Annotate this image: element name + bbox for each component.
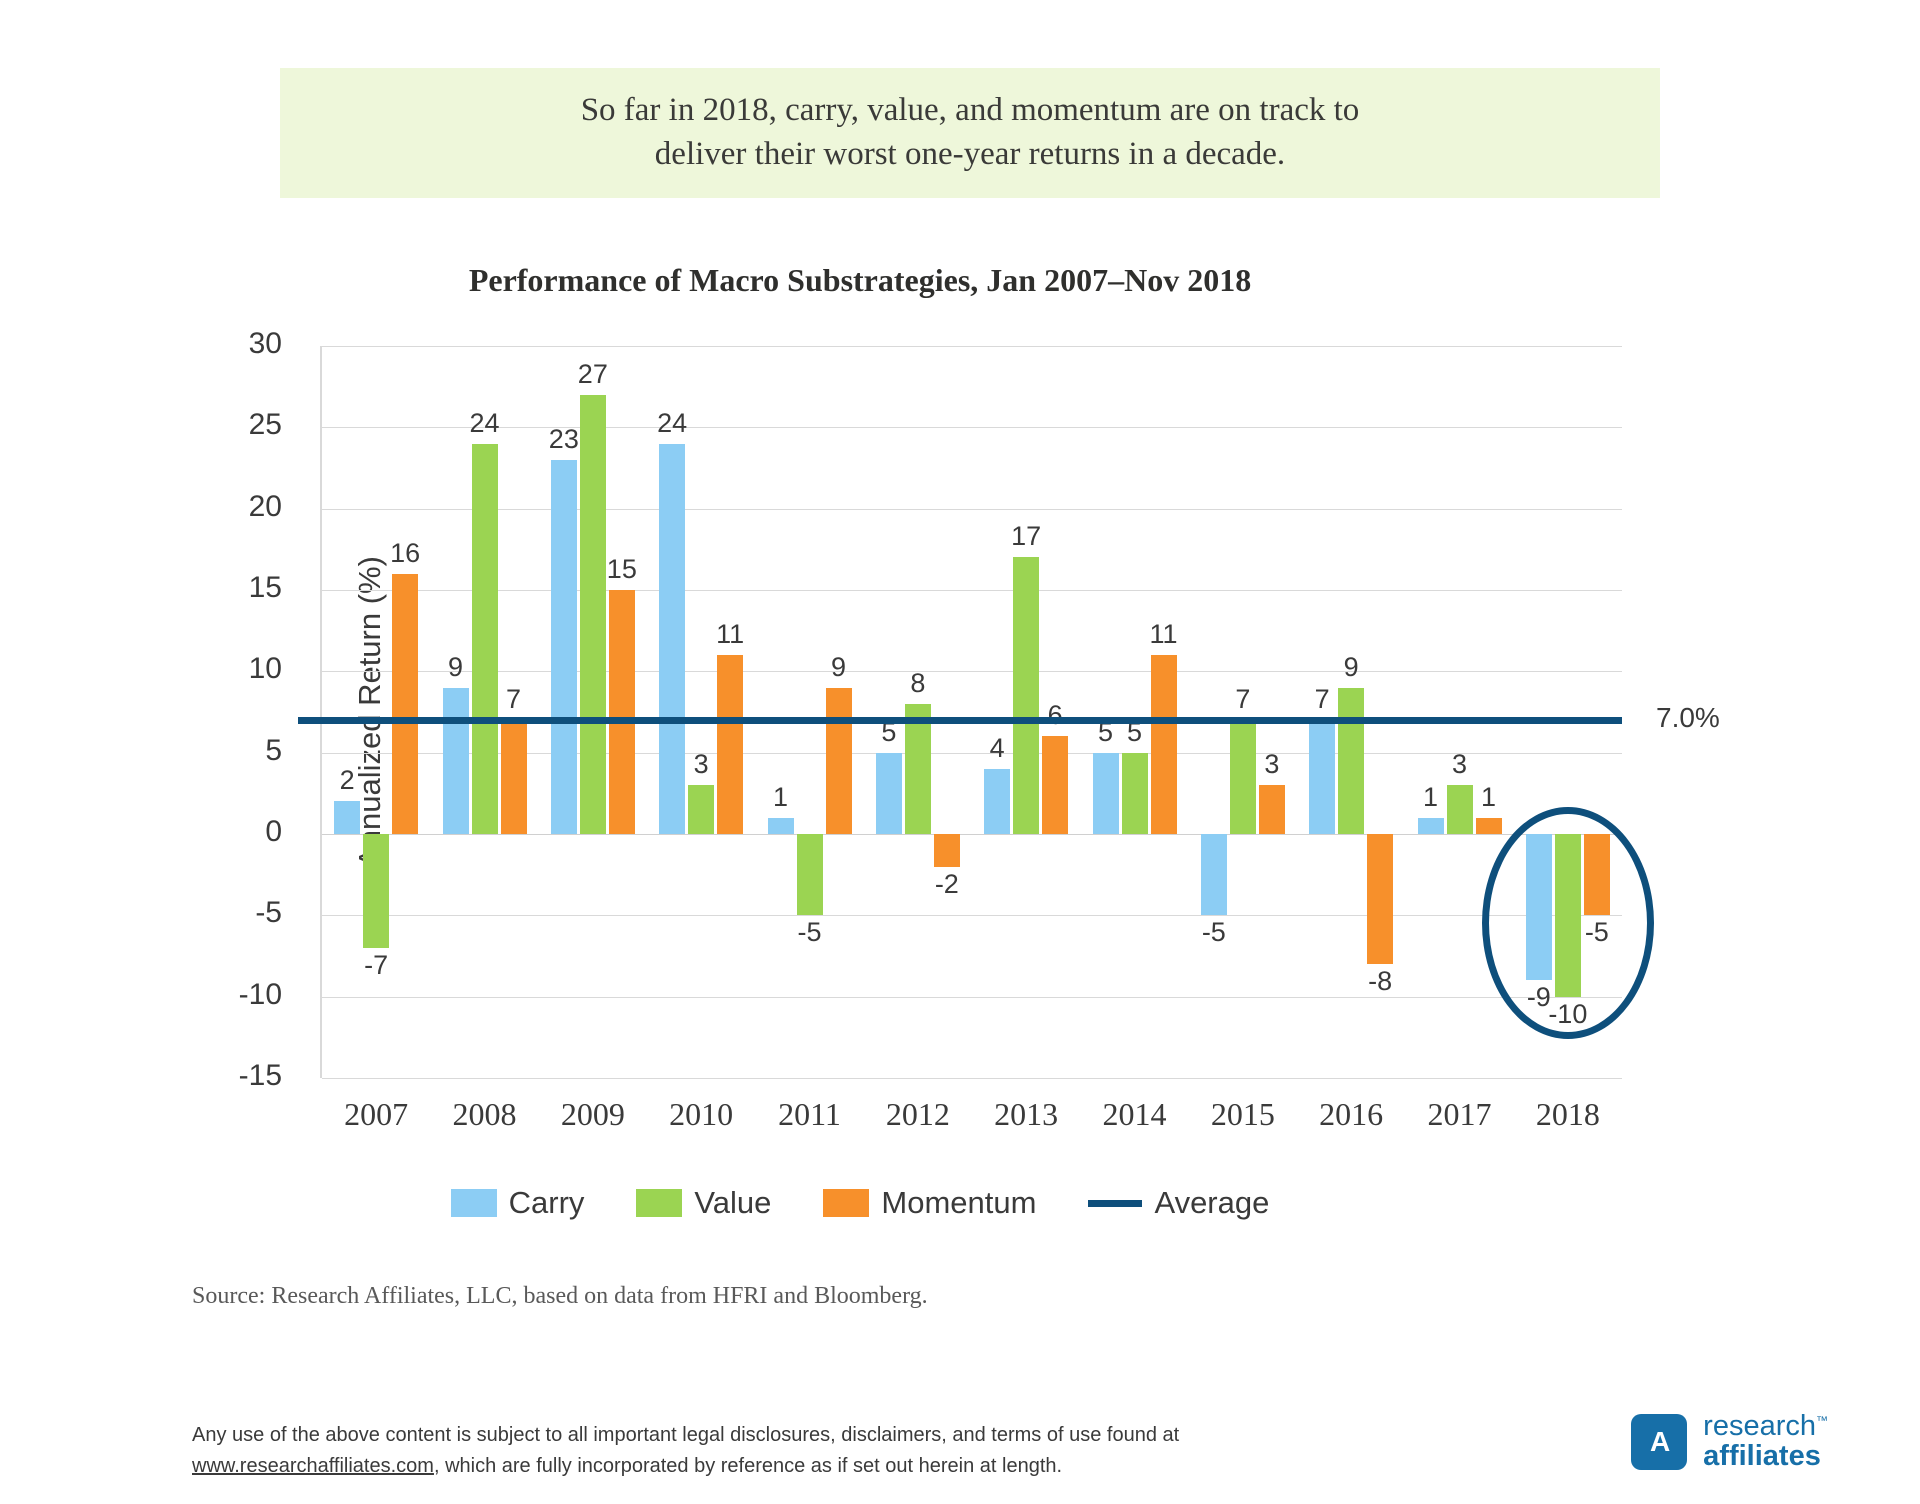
- bar-value-label-momentum-2010: 11: [700, 619, 760, 650]
- average-reference-line: [298, 717, 1622, 724]
- bar-carry-2012[interactable]: [876, 753, 902, 834]
- bar-group-2012: 58-2: [876, 346, 960, 1078]
- bar-value-label-value-2015: 7: [1213, 684, 1273, 715]
- plot-area: Annualized Return (%) 2-7169247232715243…: [322, 346, 1622, 1078]
- legend-swatch-momentum-icon: [823, 1189, 869, 1217]
- bar-carry-2017[interactable]: [1418, 818, 1444, 834]
- bar-value-label-momentum-2012: -2: [917, 869, 977, 900]
- x-axis-tick-2011: 2011: [750, 1096, 870, 1133]
- bar-carry-2014[interactable]: [1093, 753, 1119, 834]
- legend-swatch-average-icon: [1088, 1200, 1142, 1207]
- brand-line-2: affiliates: [1703, 1442, 1828, 1472]
- bar-momentum-2013[interactable]: [1042, 736, 1068, 834]
- bar-value-label-carry-2015: -5: [1184, 917, 1244, 948]
- brand-line-1-text: research: [1703, 1410, 1816, 1442]
- bar-group-2011: 1-59: [768, 346, 852, 1078]
- bar-value-2009[interactable]: [580, 395, 606, 834]
- gridline: [322, 1078, 1622, 1079]
- bar-value-label-momentum-2018: -5: [1567, 917, 1627, 948]
- bar-group-2014: 5511: [1093, 346, 1177, 1078]
- bar-group-2015: -573: [1201, 346, 1285, 1078]
- x-axis-tick-2013: 2013: [966, 1096, 1086, 1133]
- bar-momentum-2010[interactable]: [717, 655, 743, 834]
- callout-banner: So far in 2018, carry, value, and moment…: [280, 68, 1660, 198]
- bar-group-2009: 232715: [551, 346, 635, 1078]
- legend-swatch-carry-icon: [451, 1189, 497, 1217]
- bar-value-label-value-2009: 27: [563, 359, 623, 390]
- bar-momentum-2011[interactable]: [826, 688, 852, 834]
- bar-momentum-2007[interactable]: [392, 574, 418, 834]
- bar-value-label-momentum-2009: 15: [592, 554, 652, 585]
- legend-label-momentum: Momentum: [881, 1185, 1036, 1221]
- bar-carry-2008[interactable]: [443, 688, 469, 834]
- bar-group-2018: -9-10-5: [1526, 346, 1610, 1078]
- bar-value-label-momentum-2008: 7: [484, 684, 544, 715]
- bar-momentum-2016[interactable]: [1367, 834, 1393, 964]
- bar-momentum-2012[interactable]: [934, 834, 960, 867]
- bar-value-2018[interactable]: [1555, 834, 1581, 997]
- bar-value-2008[interactable]: [472, 444, 498, 834]
- bar-value-label-value-2018: -10: [1538, 999, 1598, 1030]
- bar-value-2010[interactable]: [688, 785, 714, 834]
- bar-carry-2016[interactable]: [1309, 720, 1335, 834]
- x-axis-tick-2017: 2017: [1400, 1096, 1520, 1133]
- bar-group-2017: 131: [1418, 346, 1502, 1078]
- bar-value-label-value-2007: -7: [346, 950, 406, 981]
- brand-line-1: research™: [1703, 1412, 1828, 1442]
- bar-group-2008: 9247: [443, 346, 527, 1078]
- source-note: Source: Research Affiliates, LLC, based …: [192, 1283, 928, 1310]
- x-axis-tick-2018: 2018: [1508, 1096, 1628, 1133]
- callout-line-1: So far in 2018, carry, value, and moment…: [581, 89, 1360, 133]
- research-affiliates-logo-icon: A: [1631, 1414, 1687, 1470]
- brand-wordmark: research™ affiliates: [1703, 1412, 1828, 1472]
- x-axis-tick-2009: 2009: [533, 1096, 653, 1133]
- x-axis-tick-2015: 2015: [1183, 1096, 1303, 1133]
- bar-carry-2013[interactable]: [984, 769, 1010, 834]
- footer-text-1: Any use of the above content is subject …: [192, 1424, 1179, 1446]
- bar-momentum-2015[interactable]: [1259, 785, 1285, 834]
- legend-item-carry[interactable]: Carry: [451, 1185, 585, 1221]
- bar-value-label-momentum-2017: 1: [1459, 782, 1519, 813]
- bar-carry-2007[interactable]: [334, 801, 360, 834]
- bar-value-label-value-2017: 3: [1430, 749, 1490, 780]
- bar-carry-2015[interactable]: [1201, 834, 1227, 915]
- bar-value-label-momentum-2016: -8: [1350, 966, 1410, 997]
- x-axis-tick-2014: 2014: [1075, 1096, 1195, 1133]
- x-axis-tick-2007: 2007: [316, 1096, 436, 1133]
- bar-momentum-2018[interactable]: [1584, 834, 1610, 915]
- legend-label-value: Value: [694, 1185, 771, 1221]
- bar-value-label-value-2013: 17: [996, 521, 1056, 552]
- bar-value-label-carry-2011: 1: [751, 782, 811, 813]
- legend-swatch-value-icon: [636, 1189, 682, 1217]
- bar-momentum-2009[interactable]: [609, 590, 635, 834]
- bar-value-label-momentum-2015: 3: [1242, 749, 1302, 780]
- legend-item-momentum[interactable]: Momentum: [823, 1185, 1036, 1221]
- bar-group-2010: 24311: [659, 346, 743, 1078]
- callout-line-2: deliver their worst one-year returns in …: [655, 133, 1285, 177]
- legend-label-average: Average: [1154, 1185, 1269, 1221]
- y-axis-line: [320, 346, 322, 1078]
- bar-momentum-2008[interactable]: [501, 720, 527, 834]
- bar-value-label-value-2012: 8: [888, 668, 948, 699]
- bar-value-label-momentum-2007: 16: [375, 538, 435, 569]
- brand-logo: A research™ affiliates: [1631, 1412, 1828, 1472]
- bar-value-2013[interactable]: [1013, 557, 1039, 834]
- bar-value-label-value-2008: 24: [455, 408, 515, 439]
- legend-item-value[interactable]: Value: [636, 1185, 771, 1221]
- average-value-label: 7.0%: [1656, 702, 1720, 734]
- bar-value-label-momentum-2014: 11: [1134, 619, 1194, 650]
- bar-value-label-carry-2010: 24: [642, 408, 702, 439]
- legend-item-average[interactable]: Average: [1088, 1185, 1269, 1221]
- chart-legend: CarryValueMomentumAverage: [0, 1185, 1720, 1221]
- bar-carry-2011[interactable]: [768, 818, 794, 834]
- x-axis-tick-2008: 2008: [425, 1096, 545, 1133]
- footer-link[interactable]: www.researchaffiliates.com: [192, 1455, 434, 1477]
- x-axis-tick-2016: 2016: [1291, 1096, 1411, 1133]
- chart-figure: Annualized Return (%) 2-7169247232715243…: [0, 330, 1920, 1090]
- bar-group-2016: 79-8: [1309, 346, 1393, 1078]
- bar-value-2011[interactable]: [797, 834, 823, 915]
- chart-title: Performance of Macro Substrategies, Jan …: [0, 262, 1720, 299]
- bar-group-2007: 2-716: [334, 346, 418, 1078]
- bar-value-label-value-2016: 9: [1321, 652, 1381, 683]
- bar-momentum-2014[interactable]: [1151, 655, 1177, 834]
- bar-value-2007[interactable]: [363, 834, 389, 948]
- bar-value-2016[interactable]: [1338, 688, 1364, 834]
- legend-label-carry: Carry: [509, 1185, 585, 1221]
- footer-text-2: , which are fully incorporated by refere…: [434, 1455, 1062, 1477]
- footer-disclaimer: Any use of the above content is subject …: [192, 1420, 1372, 1482]
- brand-tm: ™: [1816, 1413, 1828, 1427]
- x-axis-tick-2012: 2012: [858, 1096, 978, 1133]
- bar-group-2013: 4176: [984, 346, 1068, 1078]
- bar-carry-2018[interactable]: [1526, 834, 1552, 980]
- bar-carry-2009[interactable]: [551, 460, 577, 834]
- bar-value-label-momentum-2011: 9: [809, 652, 869, 683]
- bar-value-2014[interactable]: [1122, 753, 1148, 834]
- bar-momentum-2017[interactable]: [1476, 818, 1502, 834]
- x-axis-tick-2010: 2010: [641, 1096, 761, 1133]
- bar-value-label-carry-2007: 2: [317, 765, 377, 796]
- bar-value-label-value-2011: -5: [780, 917, 840, 948]
